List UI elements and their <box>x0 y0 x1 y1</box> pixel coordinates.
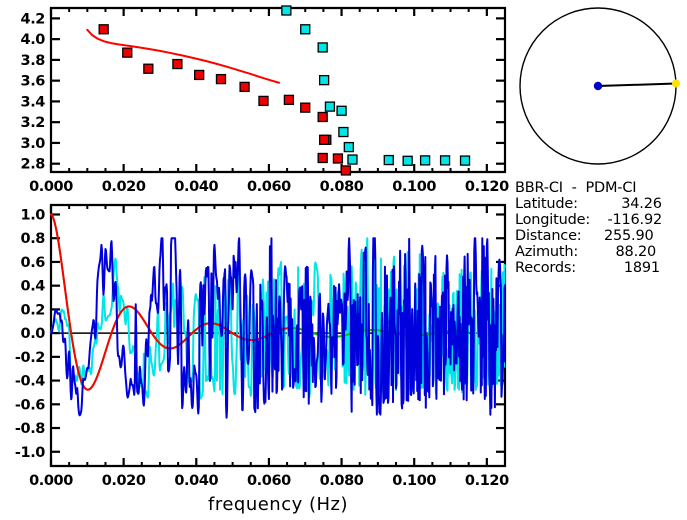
records-label: Records: <box>515 260 576 276</box>
data-marker-red <box>320 135 329 144</box>
y-tick-label: 0.4 <box>21 279 46 295</box>
data-marker-cyan <box>384 156 393 165</box>
data-marker-cyan <box>325 102 334 111</box>
station-pair-title: BBR-CI - PDM-CI <box>515 180 662 196</box>
data-marker-red <box>284 95 293 104</box>
dispersion-reference-curve <box>87 30 279 83</box>
data-marker-cyan <box>318 43 327 52</box>
y-tick-label: -1.0 <box>15 445 45 461</box>
y-tick-label: 3.0 <box>21 136 46 152</box>
data-marker-cyan <box>339 128 348 137</box>
y-tick-label: 3.2 <box>21 115 46 131</box>
y-tick-label: 3.8 <box>21 53 46 69</box>
x-tick-label: 0.040 <box>174 473 218 489</box>
records-value: 1891 <box>576 260 660 276</box>
y-tick-label: 2.8 <box>21 157 46 173</box>
data-marker-red <box>341 166 350 175</box>
data-marker-red <box>318 112 327 121</box>
x-tick-label: 0.080 <box>320 179 364 195</box>
station-info-panel: BBR-CI - PDM-CI Latitude:34.26 Longitude… <box>515 180 662 276</box>
y-tick-label: 0.2 <box>21 302 46 318</box>
data-marker-cyan <box>348 155 357 164</box>
latitude-value: 34.26 <box>578 196 662 212</box>
data-marker-cyan <box>461 156 470 165</box>
azimuth-value: 88.20 <box>578 244 656 260</box>
y-tick-label: 1.0 <box>21 207 46 223</box>
y-tick-label: 3.4 <box>21 94 46 110</box>
longitude-label: Longitude: <box>515 212 590 228</box>
data-marker-cyan <box>344 143 353 152</box>
data-marker-red <box>318 153 327 162</box>
data-marker-cyan <box>421 156 430 165</box>
x-tick-label: 0.060 <box>247 473 291 489</box>
data-marker-red <box>173 60 182 69</box>
station-endpoint-dot <box>672 80 680 88</box>
latitude-label: Latitude: <box>515 196 578 212</box>
y-tick-label: 0.0 <box>21 326 46 342</box>
azimuth-ray <box>598 84 676 86</box>
x-tick-label: 0.020 <box>102 473 146 489</box>
x-tick-label: 0.000 <box>29 473 73 489</box>
latitude-row: Latitude:34.26 <box>515 196 662 212</box>
plot-frame <box>51 8 505 172</box>
data-marker-red <box>195 70 204 79</box>
data-marker-red <box>259 96 268 105</box>
data-marker-red <box>240 82 249 91</box>
y-tick-label: -0.4 <box>15 374 45 390</box>
x-tick-label: 0.060 <box>247 179 291 195</box>
x-tick-label: 0.020 <box>102 179 146 195</box>
y-tick-label: -0.8 <box>15 421 45 437</box>
data-marker-cyan <box>403 156 412 165</box>
data-marker-cyan <box>282 6 291 15</box>
x-tick-label: 0.100 <box>392 473 436 489</box>
trace-blue-trace <box>51 238 505 417</box>
station-center-dot <box>594 82 602 90</box>
y-tick-label: 4.0 <box>21 32 46 48</box>
longitude-row: Longitude:-116.92 <box>515 212 662 228</box>
data-marker-red <box>333 154 342 163</box>
y-tick-label: 3.6 <box>21 74 46 90</box>
x-tick-label: 0.120 <box>465 179 509 195</box>
data-marker-red <box>144 64 153 73</box>
data-marker-red <box>123 48 132 57</box>
x-tick-label: 0.080 <box>320 473 364 489</box>
distance-value: 255.90 <box>582 228 654 244</box>
x-tick-label: 0.040 <box>174 179 218 195</box>
distance-row: Distance:255.90 <box>515 228 662 244</box>
longitude-value: -116.92 <box>590 212 662 228</box>
data-marker-cyan <box>337 106 346 115</box>
azimuth-label: Azimuth: <box>515 244 578 260</box>
x-axis-label: frequency (Hz) <box>208 494 348 515</box>
x-tick-label: 0.100 <box>392 179 436 195</box>
y-tick-label: 0.6 <box>21 255 46 271</box>
x-tick-label: 0.120 <box>465 473 509 489</box>
y-tick-label: -0.6 <box>15 397 45 413</box>
data-marker-cyan <box>320 76 329 85</box>
data-marker-red <box>99 25 108 34</box>
data-marker-red <box>216 75 225 84</box>
data-marker-red <box>301 103 310 112</box>
data-marker-cyan <box>441 156 450 165</box>
azimuth-row: Azimuth:88.20 <box>515 244 662 260</box>
y-tick-label: 0.8 <box>21 231 46 247</box>
y-tick-label: 4.2 <box>21 11 46 27</box>
data-marker-cyan <box>301 25 310 34</box>
x-tick-label: 0.000 <box>29 179 73 195</box>
distance-label: Distance: <box>515 228 582 244</box>
y-tick-label: -0.2 <box>15 350 45 366</box>
records-row: Records:1891 <box>515 260 662 276</box>
